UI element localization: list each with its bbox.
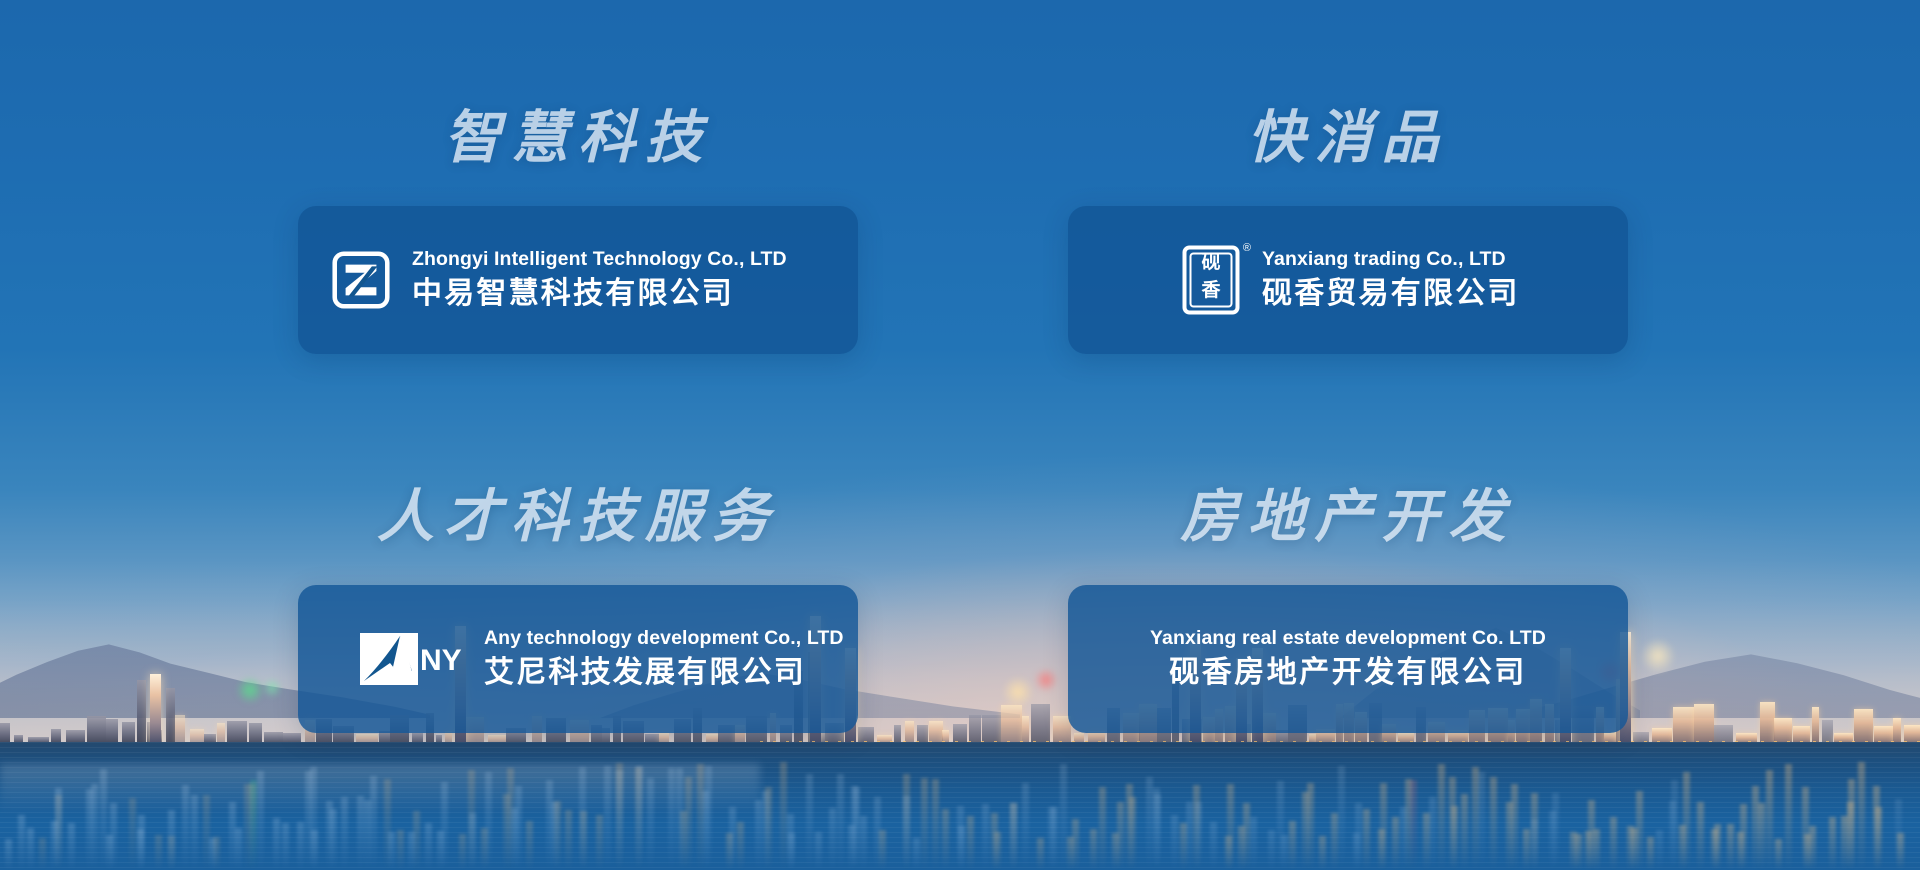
yanxiang-seal-char-1: 砚	[1182, 253, 1240, 272]
company-name-cn-2: 砚香贸易有限公司	[1262, 274, 1520, 313]
company-card-1[interactable]: Zhongyi Intelligent Technology Co., LTD …	[298, 206, 858, 354]
company-name-en-3: Any technology development Co., LTD	[484, 626, 844, 650]
yanxiang-seal-char-2: 香	[1182, 281, 1240, 300]
company-text-3: Any technology development Co., LTD 艾尼科技…	[484, 626, 844, 692]
company-name-cn-3: 艾尼科技发展有限公司	[484, 653, 844, 692]
company-text-4: Yanxiang real estate development Co. LTD…	[1150, 626, 1546, 692]
company-text-2: Yanxiang trading Co., LTD 砚香贸易有限公司	[1262, 247, 1520, 313]
registered-trademark-icon: ®	[1243, 243, 1251, 254]
company-name-cn-4: 砚香房地产开发有限公司	[1169, 653, 1527, 692]
company-text-1: Zhongyi Intelligent Technology Co., LTD …	[412, 247, 787, 313]
company-card-4[interactable]: Yanxiang real estate development Co. LTD…	[1068, 585, 1628, 733]
sector-block-1: 智慧科技 Zhongyi Intelligent Technology Co.,…	[298, 110, 858, 354]
sector-grid: 智慧科技 Zhongyi Intelligent Technology Co.,…	[0, 0, 1920, 870]
any-logo-text: NY	[420, 644, 462, 677]
sector-heading-3: 人才科技服务	[298, 489, 858, 546]
zhongyi-z-mark-icon	[332, 251, 390, 309]
company-card-2[interactable]: 砚 香 ® Yanxiang trading Co., LTD 砚香贸易有限公司	[1068, 206, 1628, 354]
company-card-3[interactable]: NY Any technology development Co., LTD 艾…	[298, 585, 858, 733]
any-mountain-mark-icon: NY	[360, 633, 468, 685]
logo-any: NY	[360, 633, 468, 685]
company-name-en-2: Yanxiang trading Co., LTD	[1262, 247, 1520, 271]
logo-zhongyi	[332, 251, 390, 309]
sector-heading-4: 房地产开发	[1068, 489, 1628, 546]
company-name-cn-1: 中易智慧科技有限公司	[412, 274, 787, 313]
sector-block-4: 房地产开发 Yanxiang real estate development C…	[1068, 489, 1628, 733]
sector-block-2: 快消品 砚 香 ® Yanxiang trading Co., LTD 砚香贸易…	[1068, 110, 1628, 354]
company-name-en-4: Yanxiang real estate development Co. LTD	[1150, 626, 1546, 650]
sector-block-3: 人才科技服务 NY Any technology development Co.…	[298, 489, 858, 733]
sector-heading-1: 智慧科技	[298, 110, 858, 167]
logo-yanxiang: 砚 香 ®	[1182, 245, 1240, 315]
company-name-en-1: Zhongyi Intelligent Technology Co., LTD	[412, 247, 787, 271]
sector-heading-2: 快消品	[1068, 110, 1628, 167]
yanxiang-seal-icon: 砚 香 ®	[1182, 245, 1240, 315]
